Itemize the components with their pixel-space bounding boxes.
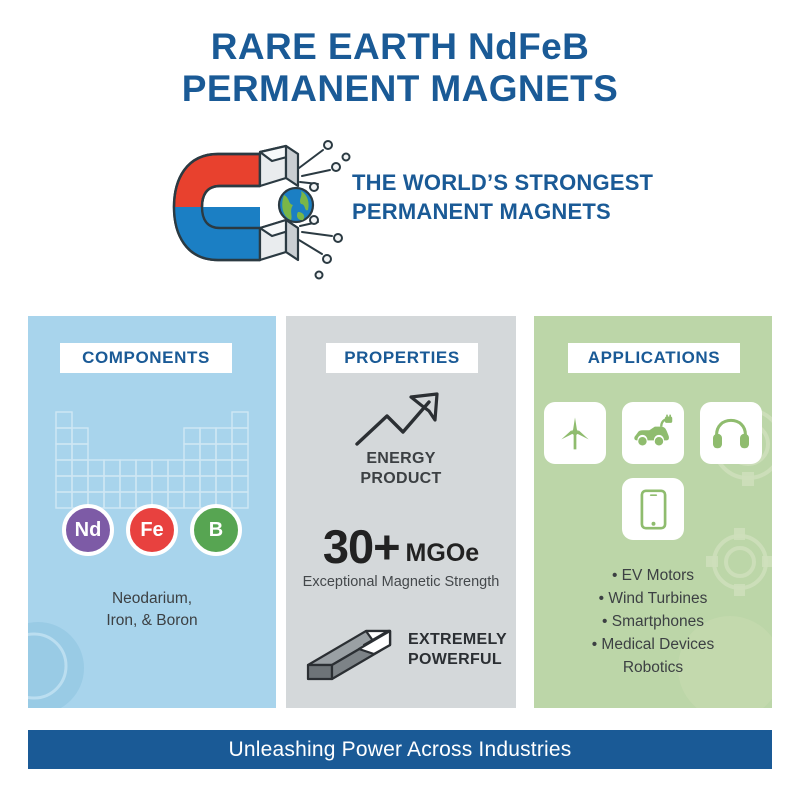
- power-label-line-1: EXTREMELY: [408, 631, 507, 648]
- element-fe: Fe: [126, 504, 178, 556]
- page-title: RARE EARTH NdFeB PERMANENT MAGNETS: [0, 26, 800, 110]
- footer-banner: Unleashing Power Across Industries: [28, 730, 772, 769]
- title-line-2: PERMANENT MAGNETS: [0, 68, 800, 110]
- energy-label-line-1: ENERGY: [366, 450, 435, 467]
- growth-arrow-icon: [351, 388, 451, 450]
- element-nd-label: Nd: [75, 519, 102, 542]
- electric-car-icon: [631, 414, 675, 452]
- panel-badge-components: COMPONENTS: [60, 343, 232, 373]
- hero-tagline: THE WORLD’S STRONGEST PERMANENT MAGNETS: [352, 168, 692, 226]
- stat-caption: Exceptional Magnetic Strength: [286, 574, 516, 590]
- tile-electric-car: [622, 402, 684, 464]
- list-item: • EV Motors: [534, 564, 772, 587]
- components-caption: Neodarium, Iron, & Boron: [28, 588, 276, 632]
- hero-section: THE WORLD’S STRONGEST PERMANENT MAGNETS: [0, 132, 800, 282]
- bar-magnet-icon: [304, 621, 409, 683]
- application-icon-tiles: [534, 402, 772, 540]
- stat-unit: MGOe: [406, 539, 480, 567]
- energy-product-label: ENERGY PRODUCT: [286, 449, 516, 489]
- tagline-line-2: PERMANENT MAGNETS: [352, 197, 692, 226]
- element-circles: Nd Fe B: [28, 504, 276, 556]
- panel-components: COMPONENTS Nd Fe B Neodarium, Iron, & Bo…: [28, 316, 276, 708]
- tile-headphones: [700, 402, 762, 464]
- tile-wind-turbine: [544, 402, 606, 464]
- panel-badge-applications: APPLICATIONS: [568, 343, 740, 373]
- components-caption-line-1: Neodarium,: [112, 590, 192, 607]
- list-item: • Wind Turbines: [534, 587, 772, 610]
- list-item: • Medical Devices: [534, 633, 772, 656]
- element-fe-label: Fe: [140, 519, 163, 542]
- tagline-line-1: THE WORLD’S STRONGEST: [352, 170, 653, 195]
- list-item: • Smartphones: [534, 610, 772, 633]
- wind-turbine-icon: [555, 413, 595, 453]
- element-nd: Nd: [62, 504, 114, 556]
- panel-properties: PROPERTIES ENERGY PRODUCT 30+MGOe Except…: [286, 316, 516, 708]
- list-item: Robotics: [534, 656, 772, 679]
- element-b-label: B: [209, 519, 223, 542]
- applications-list: • EV Motors • Wind Turbines • Smartphone…: [534, 564, 772, 679]
- smartphone-icon: [640, 489, 667, 530]
- horseshoe-magnet-icon: [160, 132, 360, 282]
- element-b: B: [190, 504, 242, 556]
- title-line-1: RARE EARTH NdFeB: [211, 26, 589, 67]
- headphones-icon: [711, 415, 751, 451]
- stat-value: 30+: [323, 520, 400, 573]
- power-label-line-2: POWERFUL: [408, 650, 508, 670]
- infographic-poster: RARE EARTH NdFeB PERMANENT MAGNETS: [0, 0, 800, 800]
- panel-applications: APPLICATIONS: [534, 316, 772, 708]
- energy-label-line-2: PRODUCT: [286, 469, 516, 489]
- tile-smartphone: [622, 478, 684, 540]
- components-caption-line-2: Iron, & Boron: [28, 610, 276, 632]
- panel-badge-properties: PROPERTIES: [326, 343, 478, 373]
- extremely-powerful-label: EXTREMELY POWERFUL: [408, 630, 508, 670]
- energy-stat: 30+MGOe: [286, 519, 516, 574]
